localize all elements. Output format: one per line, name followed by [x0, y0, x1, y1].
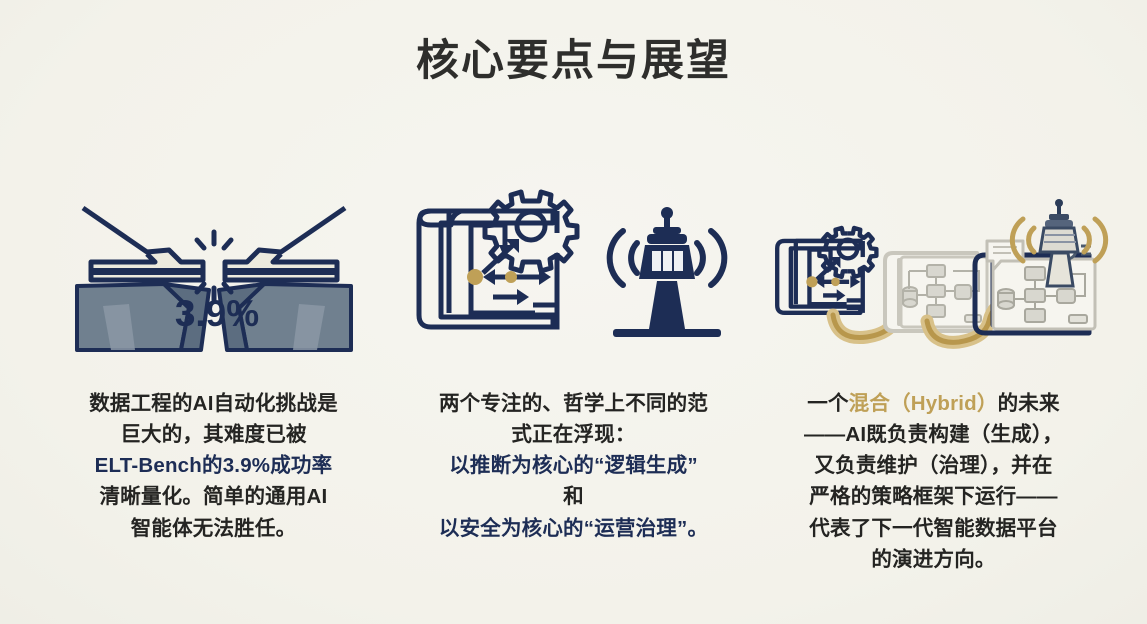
slide-root: 核心要点与展望	[0, 0, 1147, 624]
text-line: 严格的策略框架下运行——	[769, 481, 1099, 512]
broken-bridge-chasm-icon: 3.9%	[69, 180, 359, 360]
blueprint-gear-and-control-tower-icon	[409, 180, 739, 360]
metric-value: 3.9%	[174, 293, 258, 334]
text-line: 清晰量化。简单的通用AI	[49, 481, 379, 512]
text-line-highlight: 以安全为核心的“运营治理”。	[409, 513, 739, 544]
column-challenge-text: 数据工程的AI自动化挑战是 巨大的，其难度已被 ELT-Bench的3.9%成功…	[49, 388, 379, 544]
text-line: ——AI既负责构建（生成），	[769, 419, 1099, 450]
columns-container: 3.9% 数据工程的AI自动化挑战是 巨大的，其难度已被 ELT-Bench的3…	[0, 180, 1147, 575]
hybrid-pipeline-flow-icon	[769, 180, 1099, 360]
text-line: 又负责维护（治理），并在	[769, 450, 1099, 481]
column-hybrid-future: 一个混合（Hybrid）的未来 ——AI既负责构建（生成）， 又负责维护（治理）…	[754, 180, 1114, 575]
column-challenge: 3.9% 数据工程的AI自动化挑战是 巨大的，其难度已被 ELT-Bench的3…	[34, 180, 394, 544]
text-line: 巨大的，其难度已被	[49, 419, 379, 450]
blueprint-gear-icon	[419, 192, 577, 327]
control-tower-icon	[609, 207, 724, 337]
text-segment: 一个	[807, 392, 848, 415]
text-line: 代表了下一代智能数据平台	[769, 513, 1099, 544]
column-hybrid-future-text: 一个混合（Hybrid）的未来 ——AI既负责构建（生成）， 又负责维护（治理）…	[769, 388, 1099, 575]
text-line: 智能体无法胜任。	[49, 513, 379, 544]
text-line-highlight: ELT-Bench的3.9%成功率	[49, 450, 379, 481]
text-line: 一个混合（Hybrid）的未来	[769, 388, 1099, 419]
stage-pipeline-panel-icon	[885, 253, 987, 331]
text-line: 数据工程的AI自动化挑战是	[49, 388, 379, 419]
text-line: 式正在浮现：	[409, 419, 739, 450]
text-line-highlight: 以推断为核心的“逻辑生成”	[409, 450, 739, 481]
column-paradigms-text: 两个专注的、哲学上不同的范 式正在浮现： 以推断为核心的“逻辑生成” 和 以安全…	[409, 388, 739, 544]
text-segment: 的未来	[998, 392, 1060, 415]
text-line: 和	[409, 481, 739, 512]
text-line: 的演进方向。	[769, 544, 1099, 575]
column-paradigms: 两个专注的、哲学上不同的范 式正在浮现： 以推断为核心的“逻辑生成” 和 以安全…	[394, 180, 754, 544]
text-line: 两个专注的、哲学上不同的范	[409, 388, 739, 419]
stage-blueprint-gear-icon	[777, 228, 876, 313]
page-title: 核心要点与展望	[0, 36, 1147, 88]
stage-governed-panel-icon	[975, 199, 1106, 333]
text-segment-highlight: 混合（Hybrid）	[849, 392, 998, 415]
